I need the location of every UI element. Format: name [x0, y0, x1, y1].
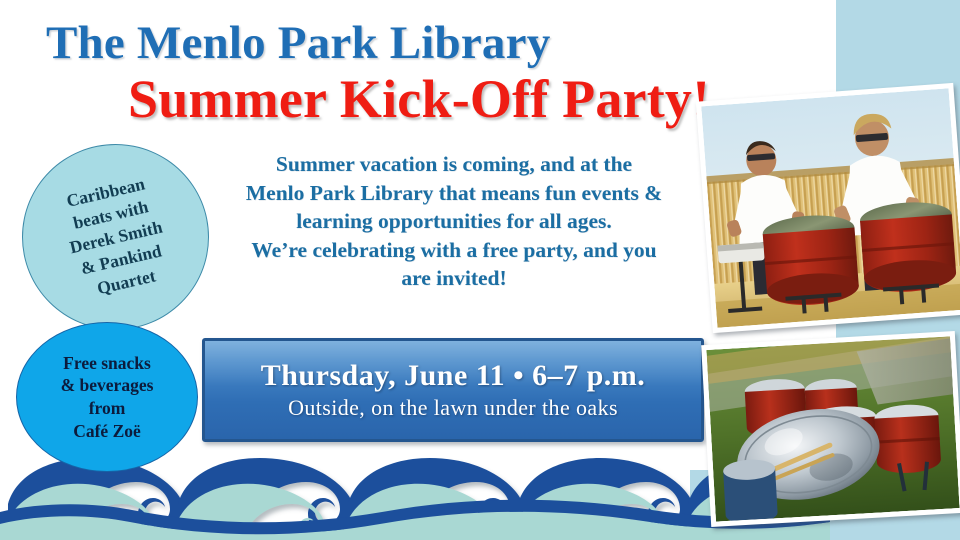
- badge-music-text: Caribbean beats with Derek Smith & Panki…: [30, 164, 202, 309]
- steel-drum-players-photo: [696, 83, 960, 333]
- event-date-time: Thursday, June 11 • 6–7 p.m.: [261, 359, 646, 393]
- body-line: We’re celebrating with a free party, and…: [196, 236, 712, 265]
- flyer-canvas: The Menlo Park Library Summer Kick-Off P…: [0, 0, 960, 540]
- photo-image-area: [701, 88, 960, 328]
- badge-food-text: Free snacks & beverages from Café Zoë: [27, 352, 187, 442]
- body-line: learning opportunities for all ages.: [196, 207, 712, 236]
- badge-food-line: Free snacks: [27, 352, 187, 375]
- body-line: are invited!: [196, 264, 712, 293]
- badge-food-line: from: [27, 397, 187, 420]
- steel-drums-on-lawn-photo: [701, 331, 960, 527]
- badge-food-circle: Free snacks & beverages from Café Zoë: [16, 322, 198, 472]
- badge-music-circle: Caribbean beats with Derek Smith & Panki…: [22, 144, 209, 330]
- body-line: Summer vacation is coming, and at the: [196, 150, 712, 179]
- photo-image-area: [706, 336, 959, 521]
- body-line: Menlo Park Library that means fun events…: [196, 179, 712, 208]
- badge-food-line: & beverages: [27, 374, 187, 397]
- flyer-body-paragraph: Summer vacation is coming, and at the Me…: [196, 150, 712, 293]
- event-details-banner: Thursday, June 11 • 6–7 p.m. Outside, on…: [202, 338, 704, 442]
- badge-food-line: Café Zoë: [27, 420, 187, 443]
- event-location: Outside, on the lawn under the oaks: [288, 395, 618, 421]
- flyer-title-secondary: Summer Kick-Off Party!: [128, 68, 710, 130]
- flyer-title-primary: The Menlo Park Library: [46, 16, 550, 70]
